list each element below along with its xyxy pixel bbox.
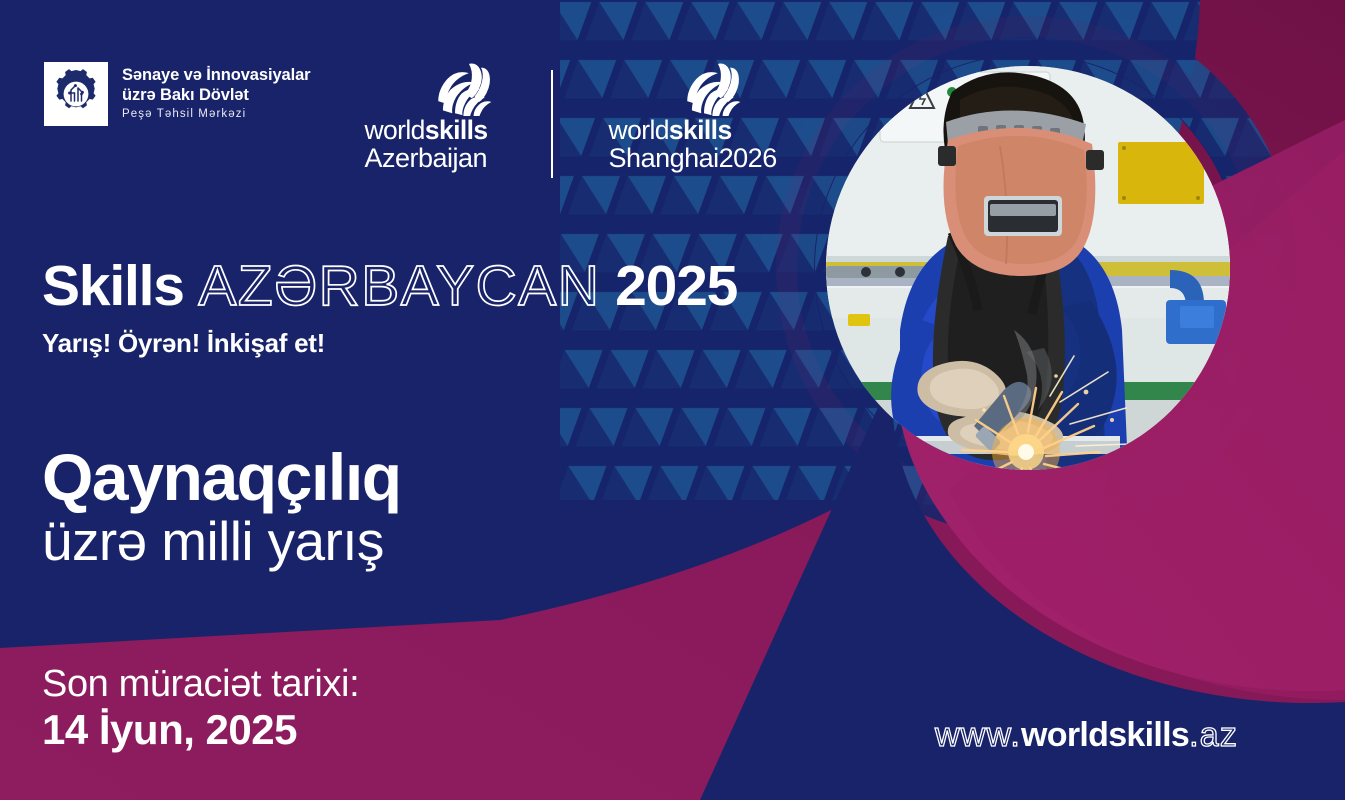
deadline-date: 14 İyun, 2025 (42, 706, 359, 753)
worldskills-hand-icon (677, 62, 757, 116)
worldskills-wordmark: worldskills (364, 118, 508, 144)
logo-divider (551, 70, 553, 178)
bdpm-line-2: üzrə Bakı Dövlət (122, 85, 310, 105)
skill-subtitle: üzrə milli yarış (42, 513, 401, 569)
skill-title-block: Qaynaqçılıq üzrə milli yarış (42, 444, 401, 569)
bdpm-logo-text: Sənaye və İnnovasiyalar üzrə Bakı Dövlət… (122, 65, 310, 123)
promotional-banner: Sənaye və İnnovasiyalar üzrə Bakı Dövlət… (0, 0, 1345, 800)
worldskills-shanghai-logo: worldskills Shanghai2026 (609, 62, 777, 172)
bdpm-logo: Sənaye və İnnovasiyalar üzrə Bakı Dövlət… (44, 62, 310, 126)
gear-circuit-icon (44, 62, 108, 126)
skill-name: Qaynaqçılıq (42, 444, 401, 511)
ws-word-light: world (364, 115, 424, 145)
url-prefix: www. (935, 716, 1021, 754)
ws-word-heavy: skills (425, 115, 488, 145)
event-headline: Skills AZƏRBAYCAN 2025 (42, 258, 737, 315)
ws-word-light: world (609, 115, 669, 145)
tagline: Yarış! Öyrən! İnkişaf et! (42, 328, 325, 359)
bdpm-line-3: Peşə Təhsil Mərkəzi (122, 106, 310, 123)
website-url[interactable]: www.worldskills.az (935, 718, 1238, 752)
bdpm-line-1: Sənaye və İnnovasiyalar (122, 65, 310, 85)
deadline-label: Son müraciət tarixi: (42, 663, 359, 706)
worldskills-az-subtitle: Azerbaijan (364, 144, 508, 172)
header-logo-row: Sənaye və İnnovasiyalar üzrə Bakı Dövlət… (44, 62, 777, 178)
url-name: worldskills (1021, 716, 1189, 754)
ws-word-heavy: skills (669, 115, 732, 145)
deadline-block: Son müraciət tarixi: 14 İyun, 2025 (42, 663, 359, 753)
url-tld: .az (1189, 716, 1238, 754)
worldskills-azerbaijan-logo: worldskills Azerbaijan (364, 62, 508, 172)
headline-skills: Skills (42, 254, 184, 318)
headline-country: AZƏRBAYCAN (198, 254, 600, 318)
worldskills-wordmark: worldskills (609, 118, 777, 144)
headline-year: 2025 (615, 254, 737, 318)
worldskills-hand-icon (428, 62, 508, 116)
worldskills-shanghai-subtitle: Shanghai2026 (609, 144, 777, 172)
